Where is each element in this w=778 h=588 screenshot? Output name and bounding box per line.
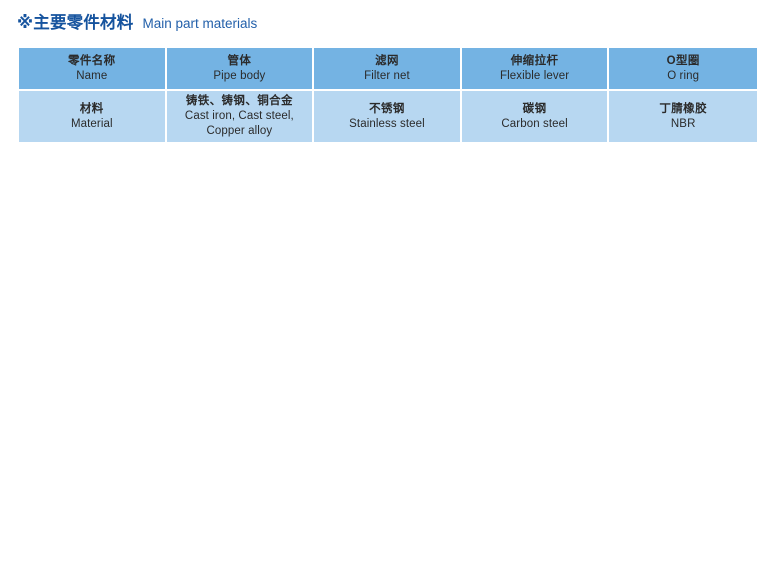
section-title: ※主要零件材料 Main part materials [17,15,257,32]
cell-material-label: 材料 Material [19,89,167,142]
cell-filter-net-material-en: Stainless steel [349,117,425,132]
cell-o-ring-material: 丁腈橡胶 NBR [609,89,757,142]
header-cell-pipe-body-en: Pipe body [213,69,265,84]
title-marker-icon: ※ [17,14,33,32]
cell-filter-net-material: 不锈钢 Stainless steel [314,89,462,142]
cell-pipe-body-material: 铸铁、铸钢、铜合金 Cast iron, Cast steel, Copper … [167,89,315,142]
header-cell-flexible-lever-cn: 伸缩拉杆 [511,54,559,69]
section-title-en: Main part materials [142,17,257,31]
main-part-materials-table: 零件名称 Name 管体 Pipe body 滤网 Filter net 伸缩拉… [19,48,757,142]
header-cell-name-en: Name [76,69,107,84]
cell-material-label-en: Material [71,117,113,132]
cell-material-label-cn: 材料 [80,102,104,117]
cell-o-ring-material-cn: 丁腈橡胶 [659,102,707,117]
header-cell-o-ring-en: O ring [667,69,699,84]
cell-o-ring-material-en: NBR [671,117,696,132]
section-title-cn: ※主要零件材料 [17,15,133,32]
header-cell-filter-net-cn: 滤网 [375,54,399,69]
title-cn-text: 主要零件材料 [33,14,133,32]
header-cell-name-cn: 零件名称 [68,54,116,69]
cell-flexible-lever-material: 碳钢 Carbon steel [462,89,610,142]
header-cell-name: 零件名称 Name [19,48,167,89]
cell-flexible-lever-material-en: Carbon steel [501,117,567,132]
header-cell-flexible-lever-en: Flexible lever [500,69,569,84]
header-cell-pipe-body-cn: 管体 [227,54,251,69]
header-cell-pipe-body: 管体 Pipe body [167,48,315,89]
cell-flexible-lever-material-cn: 碳钢 [523,102,547,117]
header-cell-filter-net-en: Filter net [364,69,410,84]
cell-pipe-body-material-cn: 铸铁、铸钢、铜合金 [186,94,293,109]
header-cell-filter-net: 滤网 Filter net [314,48,462,89]
table-header-row: 零件名称 Name 管体 Pipe body 滤网 Filter net 伸缩拉… [19,48,757,89]
cell-pipe-body-material-en: Cast iron, Cast steel, Copper alloy [173,109,305,138]
table-row: 材料 Material 铸铁、铸钢、铜合金 Cast iron, Cast st… [19,89,757,142]
header-cell-flexible-lever: 伸缩拉杆 Flexible lever [462,48,610,89]
header-cell-o-ring: O型圈 O ring [609,48,757,89]
header-cell-o-ring-cn: O型圈 [667,54,700,69]
cell-filter-net-material-cn: 不锈钢 [369,102,405,117]
